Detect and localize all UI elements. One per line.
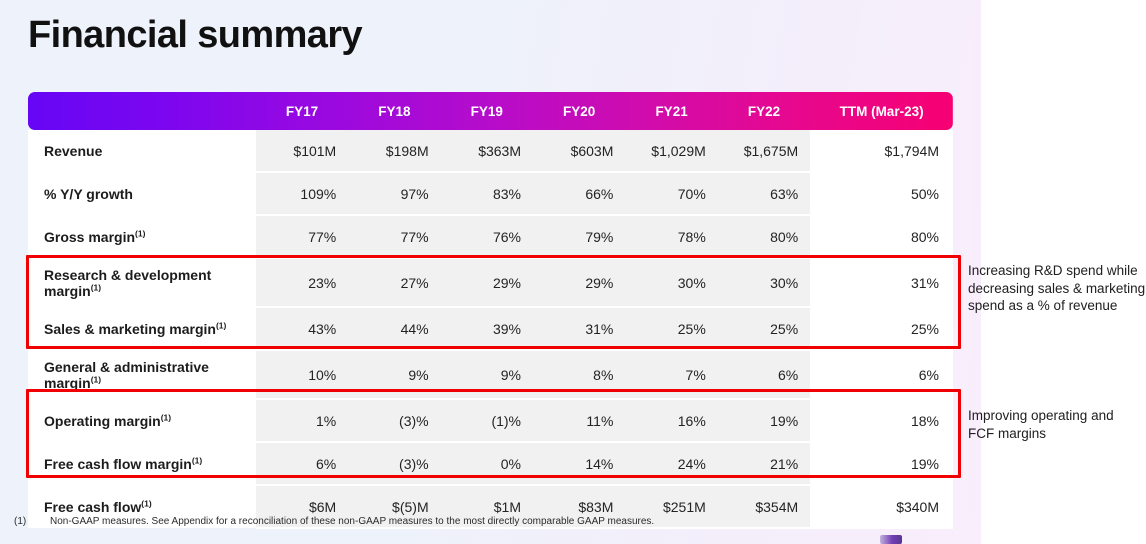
footnote-number: (1) [14, 516, 50, 527]
cell-sm-margin-fy22: 25% [718, 307, 810, 350]
cell-revenue-fy21: $1,029M [625, 130, 717, 172]
table-row: General & administrative margin(1) 10% 9… [28, 350, 953, 399]
cell-yy-growth-fy21: 70% [625, 172, 717, 215]
cell-operating-margin-fy20: 11% [533, 399, 625, 442]
footnote-marker: (1) [135, 228, 145, 238]
footnote: (1)Non-GAAP measures. See Appendix for a… [14, 516, 654, 527]
cell-revenue-fy22: $1,675M [718, 130, 810, 172]
footnote-marker: (1) [141, 498, 151, 508]
cell-ga-margin-fy22: 6% [718, 350, 810, 399]
column-header-fy17: FY17 [256, 92, 348, 130]
cell-ga-margin-fy20: 8% [533, 350, 625, 399]
cell-revenue-fy17: $101M [256, 130, 348, 172]
cell-revenue-fy18: $198M [348, 130, 440, 172]
cell-gross-margin-fy20: 79% [533, 215, 625, 258]
cell-sm-margin-fy20: 31% [533, 307, 625, 350]
cell-fcf-margin-fy20: 14% [533, 442, 625, 485]
row-label-text: Operating margin [44, 413, 161, 429]
column-header-fy20: FY20 [533, 92, 625, 130]
row-label-operating-margin: Operating margin(1) [28, 399, 256, 442]
cell-operating-margin-ttm: 18% [810, 399, 953, 442]
cell-yy-growth-fy19: 83% [441, 172, 533, 215]
cell-fcf-margin-fy21: 24% [625, 442, 717, 485]
cell-free-cash-flow-ttm: $340M [810, 485, 953, 528]
row-label-text: Research & development margin [44, 267, 211, 299]
financial-summary-table: FY17 FY18 FY19 FY20 FY21 FY22 TTM (Mar-2… [28, 92, 953, 529]
column-header-metric [28, 92, 256, 130]
cell-rd-margin-ttm: 31% [810, 258, 953, 307]
cell-gross-margin-fy18: 77% [348, 215, 440, 258]
footnote-text: Non-GAAP measures. See Appendix for a re… [50, 516, 654, 527]
row-label-revenue: Revenue [28, 130, 256, 172]
cell-fcf-margin-fy22: 21% [718, 442, 810, 485]
cell-ga-margin-fy17: 10% [256, 350, 348, 399]
row-label-yy-growth: % Y/Y growth [28, 172, 256, 215]
cell-free-cash-flow-fy22: $354M [718, 485, 810, 528]
column-header-fy21: FY21 [625, 92, 717, 130]
cell-sm-margin-fy18: 44% [348, 307, 440, 350]
cell-operating-margin-fy17: 1% [256, 399, 348, 442]
row-label-text: Gross margin [44, 229, 135, 245]
cell-ga-margin-fy21: 7% [625, 350, 717, 399]
cell-ga-margin-fy19: 9% [441, 350, 533, 399]
table-body: Revenue $101M $198M $363M $603M $1,029M … [28, 130, 953, 528]
table-row: Operating margin(1) 1% (3)% (1)% 11% 16%… [28, 399, 953, 442]
cell-ga-margin-fy18: 9% [348, 350, 440, 399]
cell-gross-margin-fy19: 76% [441, 215, 533, 258]
cell-rd-margin-fy20: 29% [533, 258, 625, 307]
cell-gross-margin-fy21: 78% [625, 215, 717, 258]
footnote-marker: (1) [216, 320, 226, 330]
cell-operating-margin-fy21: 16% [625, 399, 717, 442]
column-header-fy22: FY22 [718, 92, 810, 130]
cell-operating-margin-fy19: (1)% [441, 399, 533, 442]
cell-fcf-margin-fy18: (3)% [348, 442, 440, 485]
cell-sm-margin-ttm: 25% [810, 307, 953, 350]
cell-gross-margin-fy22: 80% [718, 215, 810, 258]
cell-fcf-margin-ttm: 19% [810, 442, 953, 485]
cell-rd-margin-fy18: 27% [348, 258, 440, 307]
footnote-marker: (1) [91, 282, 101, 292]
row-label-gross-margin: Gross margin(1) [28, 215, 256, 258]
slide-root: Financial summary FY17 FY18 FY19 FY20 FY… [0, 0, 1146, 544]
cell-operating-margin-fy18: (3)% [348, 399, 440, 442]
table-row: Research & development margin(1) 23% 27%… [28, 258, 953, 307]
cell-fcf-margin-fy17: 6% [256, 442, 348, 485]
table-row: Sales & marketing margin(1) 43% 44% 39% … [28, 307, 953, 350]
row-label-text: Free cash flow [44, 499, 141, 515]
cell-sm-margin-fy17: 43% [256, 307, 348, 350]
cell-yy-growth-fy20: 66% [533, 172, 625, 215]
cell-operating-margin-fy22: 19% [718, 399, 810, 442]
table-header-row: FY17 FY18 FY19 FY20 FY21 FY22 TTM (Mar-2… [28, 92, 953, 130]
table-header: FY17 FY18 FY19 FY20 FY21 FY22 TTM (Mar-2… [28, 92, 953, 130]
table-row: Gross margin(1) 77% 77% 76% 79% 78% 80% … [28, 215, 953, 258]
footnote-marker: (1) [192, 455, 202, 465]
cell-revenue-fy20: $603M [533, 130, 625, 172]
cell-gross-margin-ttm: 80% [810, 215, 953, 258]
row-label-text: % Y/Y growth [44, 186, 133, 202]
cell-rd-margin-fy17: 23% [256, 258, 348, 307]
row-label-text: General & administrative margin [44, 359, 209, 391]
cell-revenue-fy19: $363M [441, 130, 533, 172]
cell-sm-margin-fy19: 39% [441, 307, 533, 350]
row-label-sm-margin: Sales & marketing margin(1) [28, 307, 256, 350]
table-row: % Y/Y growth 109% 97% 83% 66% 70% 63% 50… [28, 172, 953, 215]
row-label-rd-margin: Research & development margin(1) [28, 258, 256, 307]
cell-fcf-margin-fy19: 0% [441, 442, 533, 485]
column-header-fy18: FY18 [348, 92, 440, 130]
row-label-ga-margin: General & administrative margin(1) [28, 350, 256, 399]
cell-yy-growth-fy18: 97% [348, 172, 440, 215]
row-label-text: Free cash flow margin [44, 456, 192, 472]
page-title: Financial summary [28, 12, 362, 58]
table-row: Revenue $101M $198M $363M $603M $1,029M … [28, 130, 953, 172]
cell-ga-margin-ttm: 6% [810, 350, 953, 399]
cell-gross-margin-fy17: 77% [256, 215, 348, 258]
cell-rd-margin-fy22: 30% [718, 258, 810, 307]
cell-rd-margin-fy19: 29% [441, 258, 533, 307]
column-header-ttm: TTM (Mar-23) [810, 92, 953, 130]
footnote-marker: (1) [91, 374, 101, 384]
cell-rd-margin-fy21: 30% [625, 258, 717, 307]
cell-yy-growth-fy22: 63% [718, 172, 810, 215]
footnote-marker: (1) [161, 412, 171, 422]
annotation-improving-margins: Improving operating and FCF margins [968, 407, 1138, 442]
table-row: Free cash flow margin(1) 6% (3)% 0% 14% … [28, 442, 953, 485]
financial-summary-table-wrapper: FY17 FY18 FY19 FY20 FY21 FY22 TTM (Mar-2… [28, 92, 953, 529]
row-label-text: Revenue [44, 143, 102, 159]
logo-icon [880, 535, 902, 544]
row-label-text: Sales & marketing margin [44, 321, 216, 337]
cell-yy-growth-fy17: 109% [256, 172, 348, 215]
column-header-fy19: FY19 [441, 92, 533, 130]
row-label-fcf-margin: Free cash flow margin(1) [28, 442, 256, 485]
cell-revenue-ttm: $1,794M [810, 130, 953, 172]
cell-yy-growth-ttm: 50% [810, 172, 953, 215]
cell-sm-margin-fy21: 25% [625, 307, 717, 350]
annotation-rd-spend: Increasing R&D spend while decreasing sa… [968, 262, 1146, 315]
